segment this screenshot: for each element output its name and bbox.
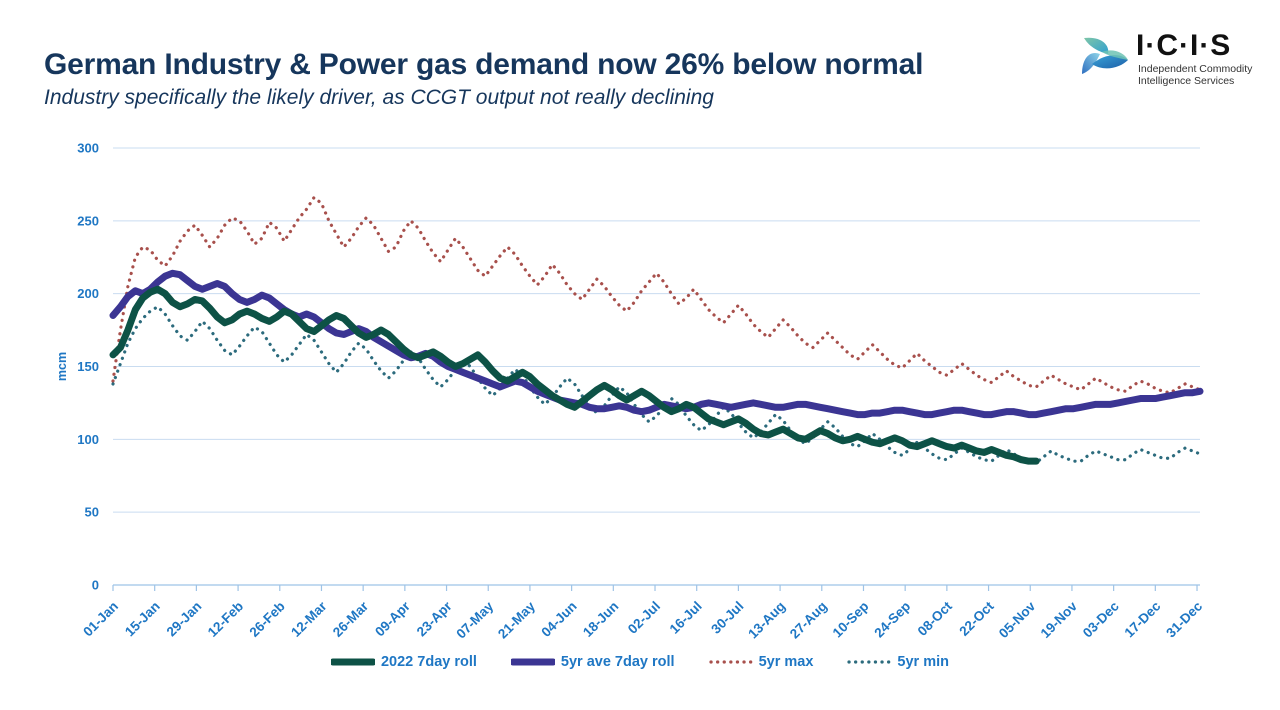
x-tick-label: 30-Jul bbox=[708, 599, 746, 637]
legend-swatch-icon bbox=[331, 655, 375, 669]
icis-wordmark: I·C·I·S bbox=[1136, 30, 1231, 62]
x-tick-label: 12-Feb bbox=[205, 599, 246, 640]
x-tick-label: 29-Jan bbox=[164, 599, 205, 640]
x-tick-label: 31-Dec bbox=[1163, 598, 1205, 640]
icis-tagline-line1: Independent Commodity bbox=[1138, 63, 1252, 75]
x-tick-label: 07-May bbox=[453, 598, 496, 641]
icis-swirl-icon bbox=[1080, 34, 1132, 80]
legend-swatch-icon bbox=[709, 655, 753, 669]
x-tick-label: 26-Mar bbox=[330, 598, 372, 640]
page-subtitle: Industry specifically the likely driver,… bbox=[44, 86, 714, 110]
y-tick-label: 200 bbox=[77, 286, 99, 301]
icis-tagline: Independent Commodity Intelligence Servi… bbox=[1138, 63, 1252, 87]
legend-label: 5yr max bbox=[759, 654, 814, 670]
legend-label: 5yr min bbox=[897, 654, 949, 670]
legend-swatch-icon bbox=[511, 655, 555, 669]
x-tick-label: 08-Oct bbox=[915, 598, 956, 639]
page-title: German Industry & Power gas demand now 2… bbox=[44, 48, 923, 82]
slide-canvas: German Industry & Power gas demand now 2… bbox=[0, 0, 1280, 710]
y-tick-label: 250 bbox=[77, 213, 99, 228]
icis-tagline-line2: Intelligence Services bbox=[1138, 75, 1252, 87]
y-tick-label: 150 bbox=[77, 359, 99, 374]
series-line-5yr-ave-7day-roll bbox=[113, 273, 1200, 414]
x-tick-label: 15-Jan bbox=[122, 599, 163, 640]
legend-label: 2022 7day roll bbox=[381, 654, 477, 670]
series-line-2022-7day-roll bbox=[113, 289, 1036, 461]
chart-gridlines bbox=[113, 148, 1200, 585]
y-tick-label: 0 bbox=[92, 578, 99, 593]
legend-item-5yr-max[interactable]: 5yr max bbox=[709, 654, 814, 670]
series-line-5yr-max bbox=[113, 198, 1200, 393]
x-tick-label: 23-Apr bbox=[414, 598, 455, 639]
chart-x-axis: 01-Jan15-Jan29-Jan12-Feb26-Feb12-Mar26-M… bbox=[80, 585, 1205, 641]
x-tick-label: 18-Jun bbox=[580, 599, 621, 640]
x-tick-label: 21-May bbox=[495, 598, 538, 641]
x-tick-label: 27-Aug bbox=[787, 599, 830, 642]
x-tick-label: 01-Jan bbox=[80, 599, 121, 640]
chart-series bbox=[113, 198, 1200, 463]
x-tick-label: 10-Sep bbox=[830, 599, 872, 641]
x-tick-label: 13-Aug bbox=[745, 599, 788, 642]
x-tick-label: 03-Dec bbox=[1080, 598, 1122, 640]
chart-y-axis: 050100150200250300 bbox=[77, 141, 99, 593]
x-tick-label: 09-Apr bbox=[372, 598, 413, 639]
chart-legend: 2022 7day roll5yr ave 7day roll5yr max5y… bbox=[0, 648, 1280, 676]
x-tick-label: 12-Mar bbox=[288, 598, 330, 640]
x-tick-label: 16-Jul bbox=[667, 599, 705, 637]
legend-item-2022-7day-roll[interactable]: 2022 7day roll bbox=[331, 654, 477, 670]
y-axis-title: mcm bbox=[55, 352, 69, 381]
x-tick-label: 05-Nov bbox=[996, 598, 1039, 641]
x-tick-label: 26-Feb bbox=[247, 599, 288, 640]
x-tick-label: 24-Sep bbox=[871, 599, 913, 641]
icis-logo: I·C·I·S Independent Commodity Intelligen… bbox=[1080, 30, 1258, 92]
y-tick-label: 300 bbox=[77, 141, 99, 156]
y-tick-label: 100 bbox=[77, 432, 99, 447]
legend-swatch-icon bbox=[847, 655, 891, 669]
x-tick-label: 22-Oct bbox=[956, 598, 997, 639]
legend-item-5yr-min[interactable]: 5yr min bbox=[847, 654, 949, 670]
legend-label: 5yr ave 7day roll bbox=[561, 654, 675, 670]
y-tick-label: 50 bbox=[85, 505, 99, 520]
legend-item-5yr-ave-7day-roll[interactable]: 5yr ave 7day roll bbox=[511, 654, 675, 670]
x-tick-label: 04-Jun bbox=[538, 599, 579, 640]
gas-demand-line-chart: 050100150200250300 01-Jan15-Jan29-Jan12-… bbox=[0, 120, 1280, 660]
x-tick-label: 02-Jul bbox=[625, 599, 663, 637]
x-tick-label: 17-Dec bbox=[1122, 598, 1164, 640]
x-tick-label: 19-Nov bbox=[1038, 598, 1081, 641]
